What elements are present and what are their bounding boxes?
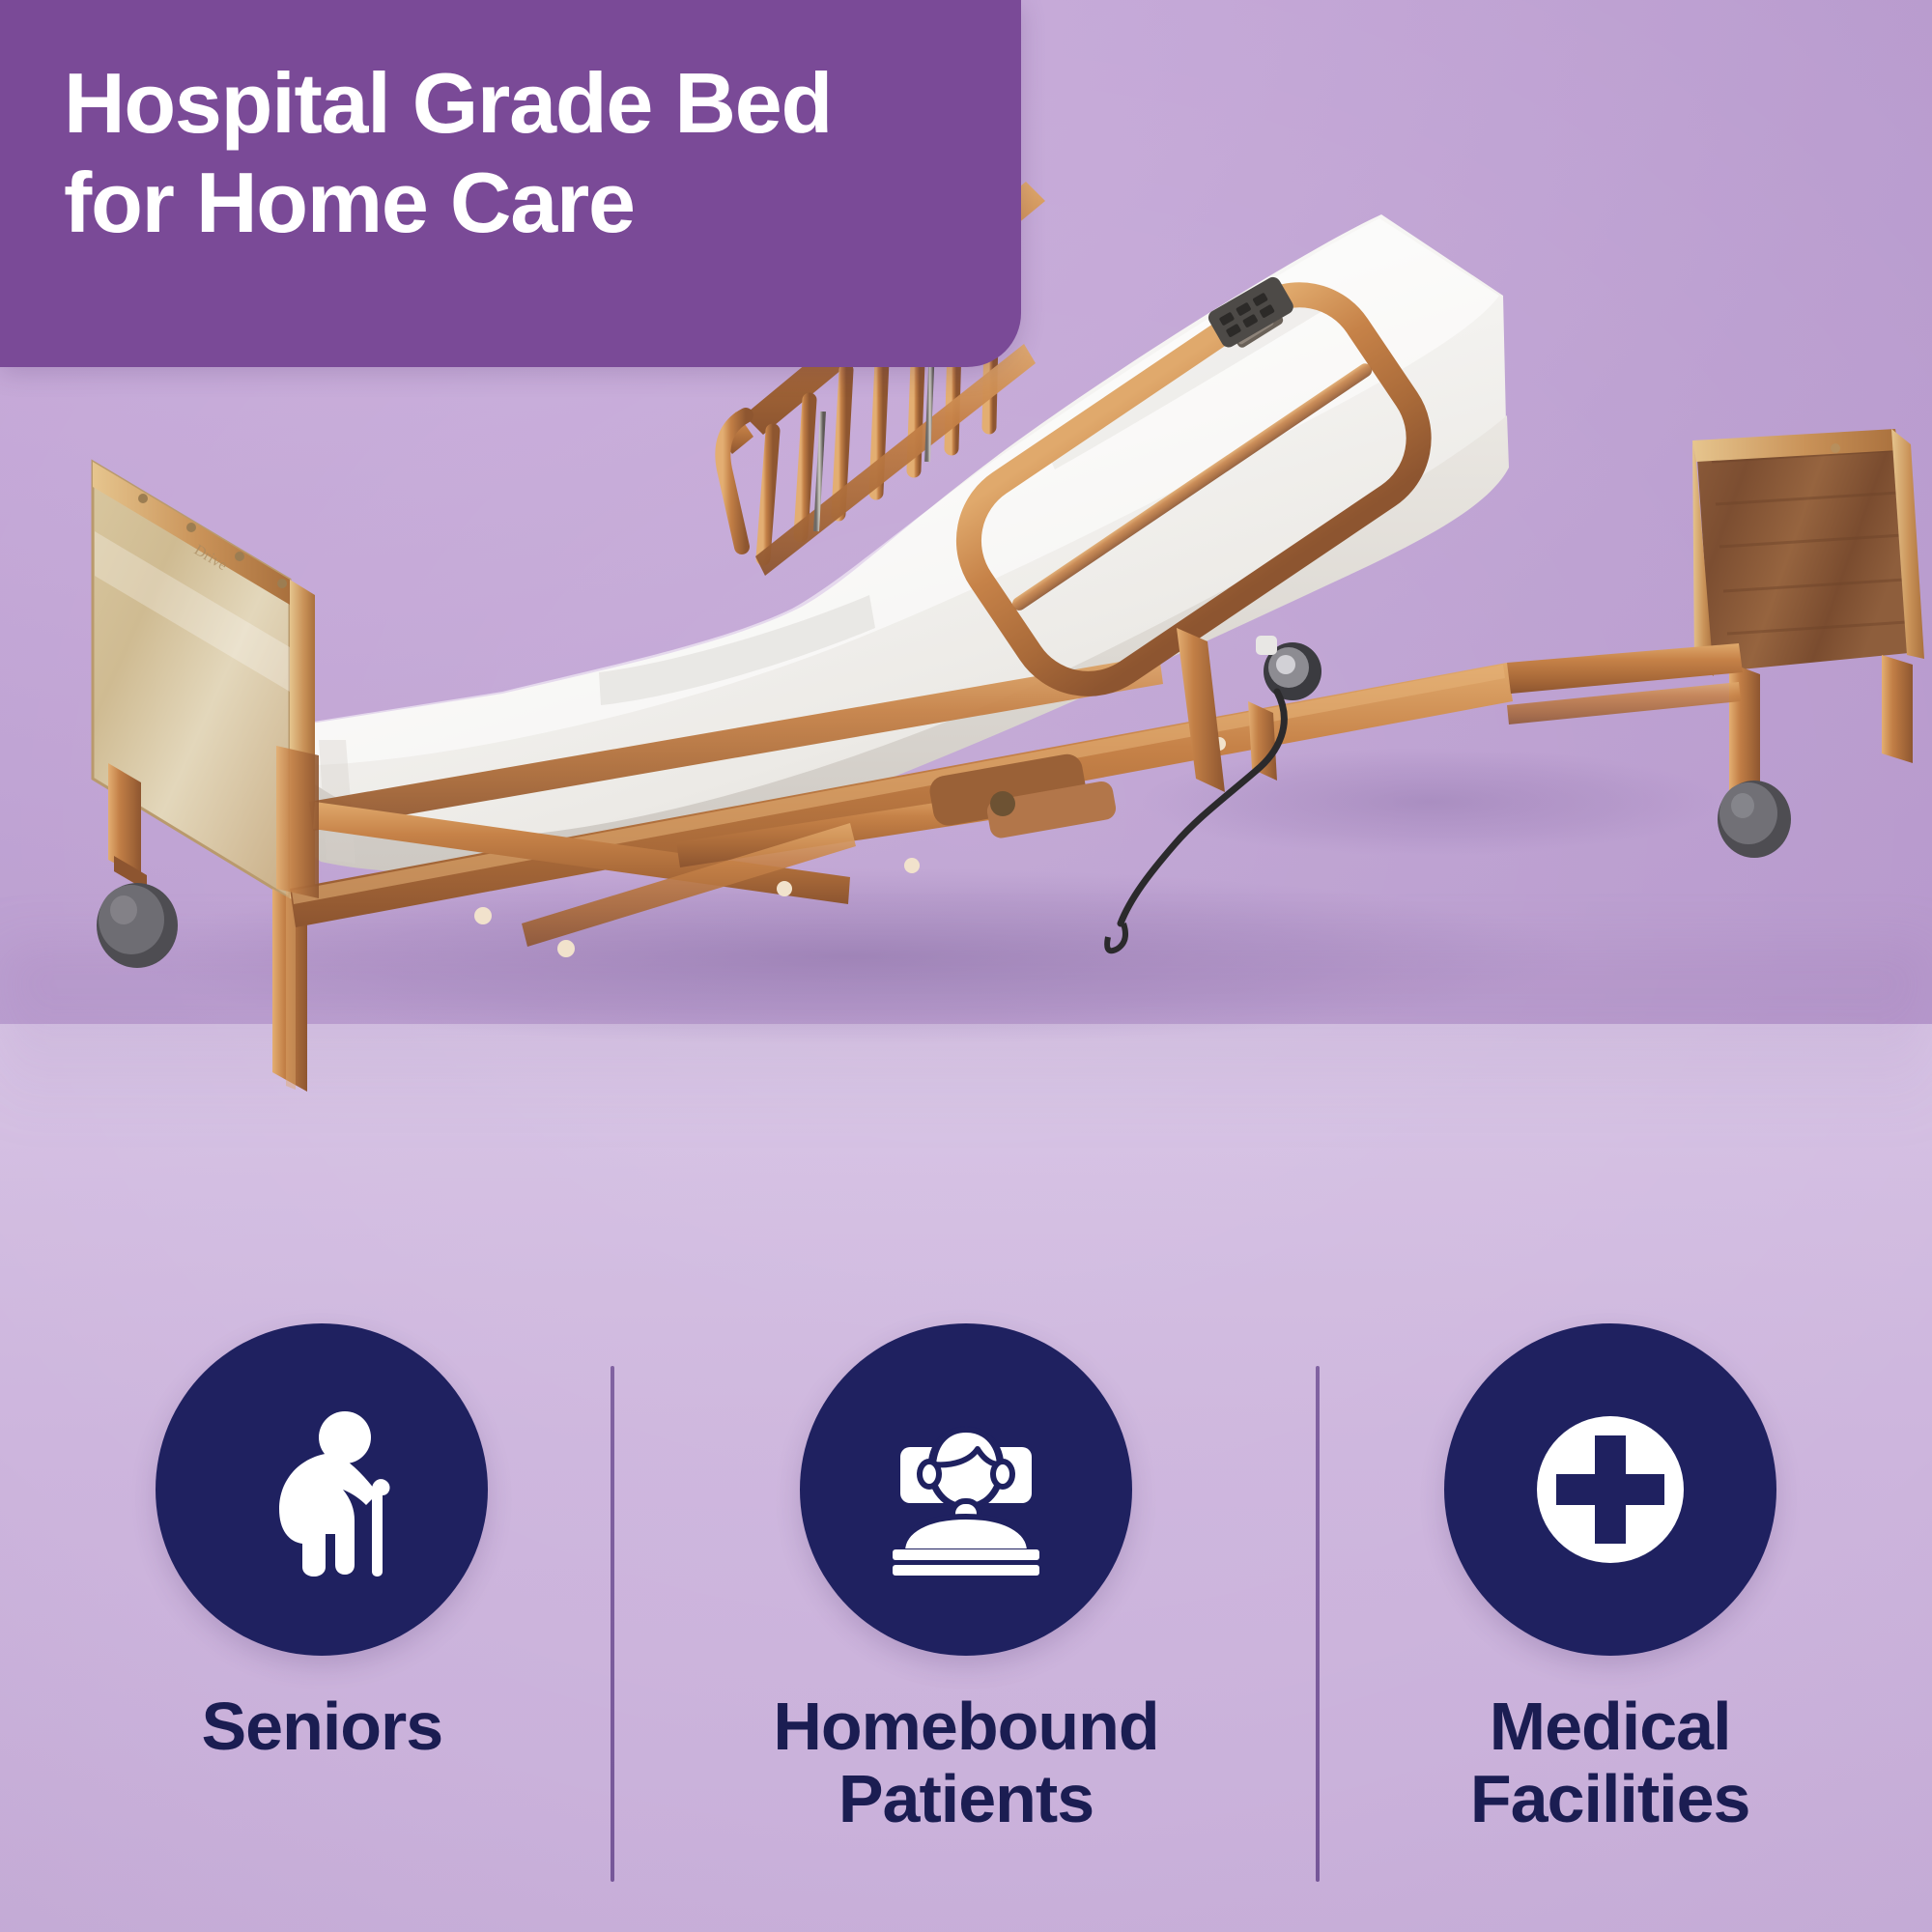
page-title: Hospital Grade Bed for Home Care <box>64 54 832 253</box>
feature-item-homebound-patients[interactable]: Homebound Patients <box>644 1323 1289 1835</box>
rail-release-knob <box>1256 636 1321 700</box>
medical-facilities-icon-badge <box>1444 1323 1776 1656</box>
audience-feature-strip: Seniors <box>0 1323 1932 1903</box>
feature-label: Seniors <box>201 1690 442 1763</box>
seniors-icon-badge <box>156 1323 488 1656</box>
elderly-person-with-cane-icon <box>225 1393 418 1586</box>
headline-banner: Hospital Grade Bed for Home Care <box>0 0 1021 367</box>
footboard-panel <box>1692 429 1924 676</box>
homebound-icon-badge <box>800 1323 1132 1656</box>
feature-item-seniors[interactable]: Seniors <box>0 1323 644 1763</box>
feature-item-medical-facilities[interactable]: Medical Facilities <box>1288 1323 1932 1835</box>
feature-label: Medical Facilities <box>1470 1690 1750 1835</box>
footboard-leg <box>1718 655 1913 858</box>
marketing-image: Drive <box>0 0 1932 1932</box>
person-in-bed-icon <box>869 1393 1063 1586</box>
feature-label: Homebound Patients <box>773 1690 1158 1835</box>
feature-divider-2 <box>1316 1366 1320 1882</box>
medical-cross-icon <box>1514 1393 1707 1586</box>
feature-divider-1 <box>611 1366 614 1882</box>
